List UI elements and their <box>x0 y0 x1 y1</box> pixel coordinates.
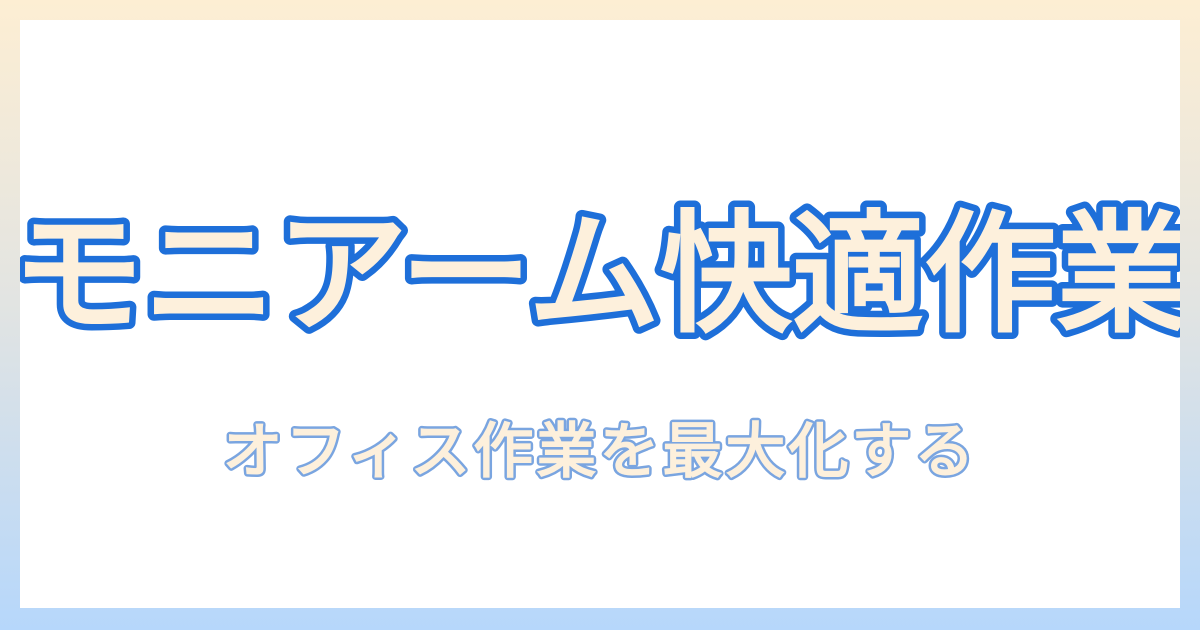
hero-title: モニアーム快適作業 <box>20 198 1180 352</box>
hero-subtitle-group: オフィス作業を最大化する オフィス作業を最大化する <box>223 417 978 487</box>
hero-title-group: モニアーム快適作業 モニアーム快適作業 <box>20 198 1180 352</box>
hero-text-svg: モニアーム快適作業 モニアーム快適作業 オフィス作業を最大化する オフィス作業を… <box>20 20 1180 608</box>
banner-card: モニアーム快適作業 モニアーム快適作業 オフィス作業を最大化する オフィス作業を… <box>0 0 1200 630</box>
headline-block: モニアーム快適作業 モニアーム快適作業 オフィス作業を最大化する オフィス作業を… <box>20 20 1180 608</box>
hero-subtitle: オフィス作業を最大化する <box>223 417 978 487</box>
banner-inner-canvas: モニアーム快適作業 モニアーム快適作業 オフィス作業を最大化する オフィス作業を… <box>20 20 1180 608</box>
